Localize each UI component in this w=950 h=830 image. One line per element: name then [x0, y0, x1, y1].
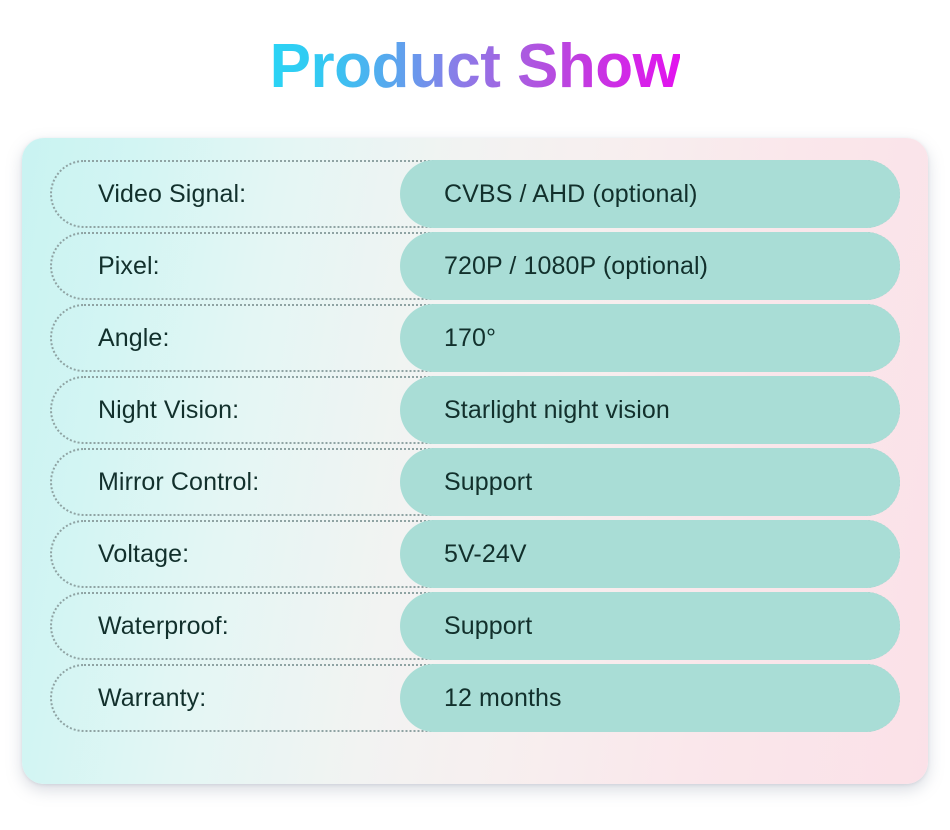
product-show-page: Product Show Video Signal:CVBS / AHD (op… [0, 0, 950, 830]
specifications-list: Video Signal:CVBS / AHD (optional)Pixel:… [22, 158, 928, 766]
specifications-card: Video Signal:CVBS / AHD (optional)Pixel:… [22, 138, 928, 784]
spec-row: Warranty:12 months [50, 662, 900, 734]
spec-value: 720P / 1080P (optional) [400, 252, 900, 281]
spec-row: Mirror Control:Support [50, 446, 900, 518]
spec-label: Warranty: [50, 684, 400, 713]
spec-label: Waterproof: [50, 612, 400, 641]
spec-label: Angle: [50, 324, 400, 353]
spec-value: Starlight night vision [400, 396, 900, 425]
spec-row: Voltage:5V-24V [50, 518, 900, 590]
spec-row: Night Vision:Starlight night vision [50, 374, 900, 446]
spec-label: Voltage: [50, 540, 400, 569]
spec-value: 12 months [400, 684, 900, 713]
page-title: Product Show [270, 34, 681, 99]
spec-row: Angle:170° [50, 302, 900, 374]
spec-value: Support [400, 612, 900, 641]
spec-value: 170° [400, 324, 900, 353]
spec-label: Mirror Control: [50, 468, 400, 497]
spec-label: Pixel: [50, 252, 400, 281]
spec-label: Night Vision: [50, 396, 400, 425]
spec-value: Support [400, 468, 900, 497]
spec-label: Video Signal: [50, 180, 400, 209]
spec-value: CVBS / AHD (optional) [400, 180, 900, 209]
spec-row: Waterproof:Support [50, 590, 900, 662]
spec-value: 5V-24V [400, 540, 900, 569]
spec-row: Pixel:720P / 1080P (optional) [50, 230, 900, 302]
page-title-wrapper: Product Show [0, 34, 950, 99]
spec-row: Video Signal:CVBS / AHD (optional) [50, 158, 900, 230]
